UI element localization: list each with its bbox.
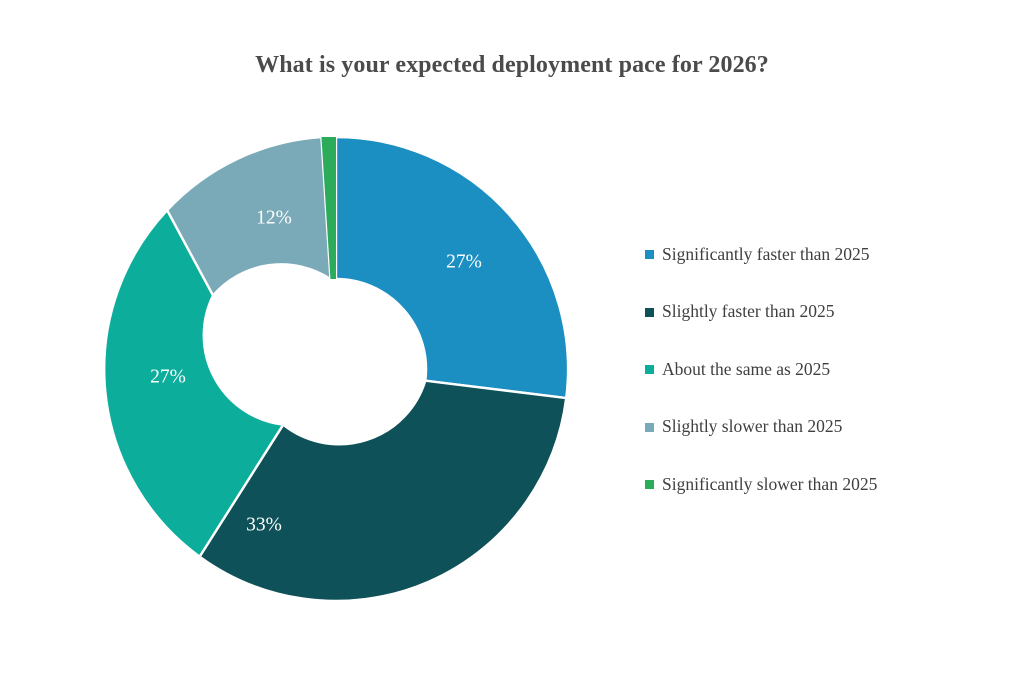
- legend-item-label: Slightly slower than 2025: [662, 418, 842, 436]
- legend-item-label: Significantly faster than 2025: [662, 246, 870, 264]
- legend-swatch-icon: [645, 365, 654, 374]
- slice-label-slightly-slower: 12%: [256, 207, 292, 228]
- donut-chart-svg: 27% 33% 27% 12%: [104, 137, 568, 601]
- slice-label-about-the-same: 27%: [150, 366, 186, 387]
- legend-item-label: Slightly faster than 2025: [662, 303, 835, 321]
- legend-item-about-the-same[interactable]: About the same as 2025: [645, 355, 985, 384]
- legend-item-label: Significantly slower than 2025: [662, 476, 877, 494]
- legend-swatch-icon: [645, 423, 654, 432]
- legend-swatch-icon: [645, 480, 654, 489]
- chart-figure: What is your expected deployment pace fo…: [0, 0, 1024, 676]
- slice-label-slightly-faster: 33%: [246, 514, 282, 535]
- legend-swatch-icon: [645, 250, 654, 259]
- legend-item-slightly-slower[interactable]: Slightly slower than 2025: [645, 413, 985, 442]
- legend-swatch-icon: [645, 308, 654, 317]
- legend-item-significantly-slower[interactable]: Significantly slower than 2025: [645, 470, 985, 499]
- legend-item-significantly-faster[interactable]: Significantly faster than 2025: [645, 240, 985, 269]
- pie-slice-slightly-faster[interactable]: [200, 381, 567, 601]
- legend-item-label: About the same as 2025: [662, 361, 830, 379]
- slice-label-significantly-faster: 27%: [446, 251, 482, 272]
- page-title: What is your expected deployment pace fo…: [0, 52, 1024, 79]
- chart-legend: Significantly faster than 2025 Slightly …: [645, 240, 985, 528]
- legend-item-slightly-faster[interactable]: Slightly faster than 2025: [645, 298, 985, 327]
- donut-chart: 27% 33% 27% 12%: [104, 137, 568, 601]
